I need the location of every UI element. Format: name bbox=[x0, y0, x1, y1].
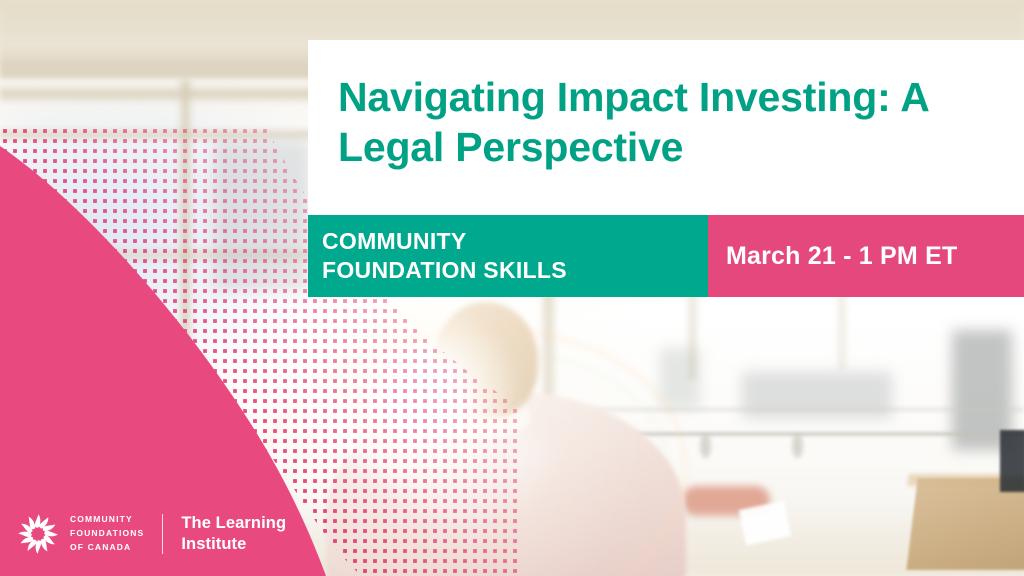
logo-sub-brand: The Learning Institute bbox=[181, 513, 286, 556]
logo-divider bbox=[162, 514, 163, 554]
logo-sub-line1: The Learning bbox=[181, 513, 286, 534]
banner-category: COMMUNITY FOUNDATION SKILLS bbox=[308, 215, 708, 297]
logo-org-line1: COMMUNITY bbox=[70, 513, 144, 527]
logo-org-line3: OF CANADA bbox=[70, 541, 144, 555]
logo-lockup: COMMUNITY FOUNDATIONS OF CANADA The Lear… bbox=[16, 510, 286, 558]
logo-org-name: COMMUNITY FOUNDATIONS OF CANADA bbox=[70, 513, 144, 554]
title-card: Navigating Impact Investing: A Legal Per… bbox=[308, 40, 1024, 215]
promo-graphic: Navigating Impact Investing: A Legal Per… bbox=[0, 0, 1024, 576]
railing-post bbox=[792, 434, 803, 458]
railing-post bbox=[700, 434, 711, 458]
logo-org-line2: FOUNDATIONS bbox=[70, 527, 144, 541]
banner-datetime: March 21 - 1 PM ET bbox=[708, 215, 1024, 297]
sunburst-logo-icon bbox=[16, 512, 60, 556]
logo-sub-line2: Institute bbox=[181, 534, 286, 555]
banner-category-text: COMMUNITY FOUNDATION SKILLS bbox=[308, 227, 567, 286]
monitor-edge bbox=[1000, 430, 1024, 492]
banner-datetime-text: March 21 - 1 PM ET bbox=[708, 242, 957, 271]
info-banner: COMMUNITY FOUNDATION SKILLS March 21 - 1… bbox=[308, 215, 1024, 297]
page-title: Navigating Impact Investing: A Legal Per… bbox=[338, 72, 998, 172]
banner-category-line1: COMMUNITY bbox=[322, 228, 467, 254]
distant-building bbox=[742, 372, 892, 418]
banner-category-line2: FOUNDATION SKILLS bbox=[322, 257, 567, 283]
